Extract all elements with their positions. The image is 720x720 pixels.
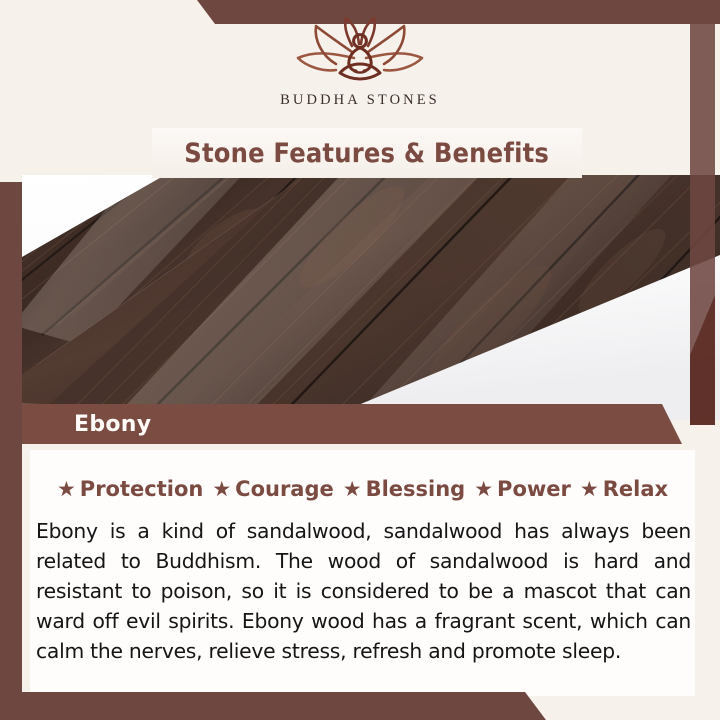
ebony-wood-planks-illustration — [22, 175, 720, 420]
feature-label: Relax — [603, 477, 668, 501]
page-title: Stone Features & Benefits — [185, 138, 550, 169]
lotus-meditating-buddha-icon — [276, 14, 444, 88]
title-banner: Stone Features & Benefits — [152, 128, 582, 178]
feature-label: Power — [497, 477, 571, 501]
star-icon: ★ — [343, 479, 362, 500]
feature-label: Courage — [235, 477, 334, 501]
feature-label: Protection — [80, 477, 204, 501]
star-icon: ★ — [474, 479, 493, 500]
product-name: Ebony — [74, 412, 151, 437]
product-photo — [22, 175, 720, 420]
product-name-band: Ebony — [22, 404, 682, 444]
star-icon: ★ — [212, 479, 231, 500]
decorative-bottom-bar — [0, 692, 720, 720]
feature-item: ★ Courage — [212, 477, 333, 501]
star-icon: ★ — [57, 479, 76, 500]
feature-item: ★ Blessing — [343, 477, 465, 501]
feature-item: ★ Relax — [580, 477, 668, 501]
feature-label: Blessing — [366, 477, 466, 501]
brand-wordmark: BUDDHA STONES — [280, 92, 440, 109]
infographic-card: BUDDHA STONES Stone Features & Benefits … — [0, 0, 720, 720]
star-icon: ★ — [580, 479, 599, 500]
brand-logo: BUDDHA STONES — [0, 14, 720, 122]
description-text: Ebony is a kind of sandalwood, sandalwoo… — [36, 516, 691, 666]
description-block: Ebony is a kind of sandalwood, sandalwoo… — [36, 516, 691, 666]
feature-item: ★ Power — [474, 477, 571, 501]
decorative-left-bar — [0, 182, 22, 720]
feature-list: ★ Protection ★ Courage ★ Blessing ★ Powe… — [30, 472, 695, 506]
feature-item: ★ Protection — [57, 477, 203, 501]
